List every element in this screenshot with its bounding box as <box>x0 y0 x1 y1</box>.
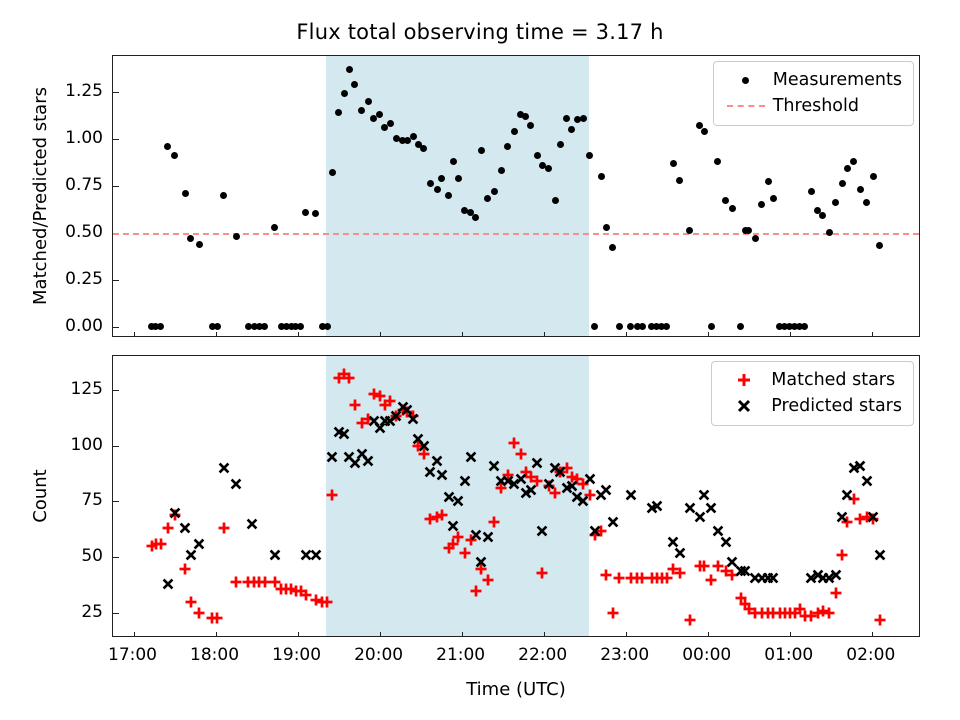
data-point-measurement <box>182 190 189 197</box>
data-point-matched <box>265 582 266 583</box>
y-tick-mark <box>113 501 119 502</box>
data-point-measurement <box>164 143 171 150</box>
data-point-measurement <box>365 98 372 105</box>
data-point-measurement <box>498 167 505 174</box>
data-point-matched <box>537 481 538 482</box>
data-point-predicted <box>560 472 561 473</box>
data-point-measurement <box>387 120 394 127</box>
y-tick-label: 0.50 <box>65 222 103 242</box>
x-tick-label: 22:00 <box>518 645 567 665</box>
data-point-predicted <box>413 419 414 420</box>
data-point-measurement <box>196 241 203 248</box>
data-point-measurement <box>297 323 304 330</box>
x-tick-label: 17:00 <box>108 645 157 665</box>
x-tick-mark <box>790 632 791 637</box>
x-tick-mark <box>626 332 627 337</box>
data-point-predicted <box>424 446 425 447</box>
data-point-predicted <box>847 495 848 496</box>
data-point-predicted <box>494 466 495 467</box>
data-point-predicted <box>442 475 443 476</box>
data-point-predicted <box>867 481 868 482</box>
data-point-measurement <box>214 323 221 330</box>
x-tick-mark <box>462 632 463 637</box>
x-tick-mark <box>544 632 545 637</box>
y-tick-label: 1.25 <box>65 81 103 101</box>
legend-label: Measurements <box>769 70 902 90</box>
data-point-predicted <box>531 490 532 491</box>
data-point-predicted <box>631 495 632 496</box>
data-point-measurement <box>450 158 457 165</box>
legend-marker-measurements <box>723 77 769 84</box>
data-point-predicted <box>252 524 253 525</box>
data-point-matched <box>667 578 668 579</box>
y-tick-mark <box>113 446 119 447</box>
data-point-measurement <box>335 109 342 116</box>
data-point-predicted <box>732 562 733 563</box>
data-point-measurement <box>826 229 833 236</box>
data-point-measurement <box>832 199 839 206</box>
data-point-measurement <box>609 244 616 251</box>
data-point-predicted <box>488 537 489 538</box>
data-point-predicted <box>430 472 431 473</box>
data-point-measurement <box>729 205 736 212</box>
legend-label: Matched stars <box>767 370 895 390</box>
data-point-predicted <box>449 497 450 498</box>
data-point-predicted <box>549 484 550 485</box>
data-point-measurement <box>580 115 587 122</box>
data-point-predicted <box>583 501 584 502</box>
data-point-matched <box>349 378 350 379</box>
data-point-matched <box>332 495 333 496</box>
data-point-predicted <box>680 553 681 554</box>
data-point-measurement <box>586 152 593 159</box>
data-point-matched <box>236 582 237 583</box>
data-point-matched <box>476 591 477 592</box>
data-point-predicted <box>332 457 333 458</box>
data-point-matched <box>380 396 381 397</box>
data-point-matched <box>217 618 218 619</box>
data-point-predicted <box>465 481 466 482</box>
data-point-matched <box>168 528 169 529</box>
y-tick-label: 125 <box>71 379 103 399</box>
data-point-predicted <box>471 457 472 458</box>
data-point-predicted <box>590 479 591 480</box>
x-tick-mark <box>872 332 873 337</box>
data-point-matched <box>465 553 466 554</box>
data-point-measurement <box>701 128 708 135</box>
data-point-predicted <box>700 517 701 518</box>
data-point-measurement <box>157 323 164 330</box>
data-point-matched <box>185 569 186 570</box>
data-point-predicted <box>407 410 408 411</box>
data-point-predicted <box>275 555 276 556</box>
data-point-measurement <box>552 197 559 204</box>
data-point-measurement <box>563 115 570 122</box>
data-point-matched <box>680 573 681 574</box>
legend-row: Matched stars <box>721 367 902 393</box>
data-point-predicted <box>224 468 225 469</box>
x-tick-mark <box>216 632 217 637</box>
data-point-predicted <box>316 555 317 556</box>
data-point-measurement <box>346 66 353 73</box>
data-point-measurement <box>714 158 721 165</box>
data-point-measurement <box>737 323 744 330</box>
data-point-measurement <box>491 188 498 195</box>
x-tick-mark <box>708 632 709 637</box>
data-point-matched <box>642 578 643 579</box>
data-point-predicted <box>880 555 881 556</box>
data-point-matched <box>390 401 391 402</box>
data-point-measurement <box>171 152 178 159</box>
page-title: Flux total observing time = 3.17 h <box>0 20 960 44</box>
x-tick-label: 20:00 <box>354 645 403 665</box>
data-point-predicted <box>191 555 192 556</box>
data-point-measurement <box>504 143 511 150</box>
data-point-predicted <box>595 531 596 532</box>
data-point-predicted <box>355 463 356 464</box>
data-point-measurement <box>376 111 383 118</box>
data-point-measurement <box>808 188 815 195</box>
data-point-measurement <box>220 192 227 199</box>
data-point-matched <box>494 522 495 523</box>
data-point-predicted <box>690 508 691 509</box>
data-point-matched <box>355 405 356 406</box>
data-point-predicted <box>306 555 307 556</box>
data-point-measurement <box>445 192 452 199</box>
x-axis-label: Time (UTC) <box>466 679 566 700</box>
y-tick-label: 25 <box>81 602 103 622</box>
data-point-matched <box>521 454 522 455</box>
data-point-matched <box>555 493 556 494</box>
data-point-predicted <box>704 495 705 496</box>
data-point-matched <box>161 544 162 545</box>
y-tick-label: 1.00 <box>65 128 103 148</box>
x-tick-mark <box>626 632 627 637</box>
data-point-measurement <box>568 126 575 133</box>
data-point-measurement <box>591 323 598 330</box>
data-point-measurement <box>312 210 319 217</box>
data-point-matched <box>458 537 459 538</box>
data-point-measurement <box>341 90 348 97</box>
data-point-measurement <box>819 212 826 219</box>
legend-marker-threshold <box>723 105 769 107</box>
data-point-predicted <box>476 535 477 536</box>
x-tick-label: 02:00 <box>846 645 895 665</box>
data-point-predicted <box>521 479 522 480</box>
x-tick-mark <box>298 632 299 637</box>
data-point-measurement <box>770 195 777 202</box>
y-tick-label: 100 <box>71 435 103 455</box>
data-point-predicted <box>396 416 397 417</box>
data-point-predicted <box>673 542 674 543</box>
data-point-measurement <box>670 160 677 167</box>
data-point-predicted <box>453 526 454 527</box>
data-point-matched <box>613 613 614 614</box>
x-tick-mark <box>216 332 217 337</box>
x-tick-mark <box>462 332 463 337</box>
y-axis-label: Count <box>30 469 51 522</box>
x-tick-mark <box>708 332 709 337</box>
data-point-predicted <box>437 461 438 462</box>
data-point-matched <box>306 595 307 596</box>
legend-marker-predicted-stars <box>721 398 767 414</box>
data-point-measurement <box>455 175 462 182</box>
y-tick-label: 0.25 <box>65 269 103 289</box>
data-point-measurement <box>857 186 864 193</box>
data-point-measurement <box>478 147 485 154</box>
data-point-matched <box>191 602 192 603</box>
data-point-predicted <box>860 466 861 467</box>
legend-count-panel: Matched starsPredicted stars <box>711 361 914 426</box>
data-point-measurement <box>639 323 646 330</box>
data-point-matched <box>199 613 200 614</box>
data-point-predicted <box>368 461 369 462</box>
data-point-predicted <box>718 531 719 532</box>
data-point-measurement <box>324 323 331 330</box>
legend-label: Predicted stars <box>767 396 902 416</box>
y-tick-label: 75 <box>81 490 103 510</box>
data-point-predicted <box>542 531 543 532</box>
data-point-matched <box>327 602 328 603</box>
data-point-matched <box>704 566 705 567</box>
legend-ratio-panel: MeasurementsThreshold <box>713 61 914 126</box>
data-point-matched <box>842 555 843 556</box>
data-point-matched <box>606 575 607 576</box>
data-point-matched <box>836 593 837 594</box>
data-point-predicted <box>168 584 169 585</box>
data-point-matched <box>829 613 830 614</box>
data-point-measurement <box>708 323 715 330</box>
data-point-measurement <box>676 177 683 184</box>
data-point-measurement <box>187 235 194 242</box>
y-tick-mark <box>113 186 119 187</box>
legend-row: Predicted stars <box>721 393 902 419</box>
data-point-measurement <box>603 224 610 231</box>
data-point-predicted <box>344 434 345 435</box>
data-point-measurement <box>839 180 846 187</box>
data-point-measurement <box>598 173 605 180</box>
data-point-predicted <box>572 486 573 487</box>
data-point-measurement <box>233 233 240 240</box>
x-tick-label: 23:00 <box>600 645 649 665</box>
y-tick-label: 0.75 <box>65 175 103 195</box>
data-point-predicted <box>175 513 176 514</box>
x-tick-label: 00:00 <box>682 645 731 665</box>
data-point-measurement <box>522 113 529 120</box>
y-axis-label: Matched/Predicted stars <box>30 87 51 305</box>
data-point-measurement <box>616 323 623 330</box>
x-tick-label: 18:00 <box>190 645 239 665</box>
y-tick-mark <box>113 613 119 614</box>
data-point-measurement <box>863 199 870 206</box>
data-point-predicted <box>199 544 200 545</box>
y-tick-mark <box>113 280 119 281</box>
data-point-measurement <box>765 178 772 185</box>
data-point-matched <box>542 573 543 574</box>
data-point-matched <box>880 620 881 621</box>
data-point-matched <box>442 515 443 516</box>
data-point-measurement <box>271 224 278 231</box>
y-tick-mark <box>113 327 119 328</box>
x-tick-mark <box>134 632 135 637</box>
x-tick-mark <box>380 632 381 637</box>
legend-label: Threshold <box>769 96 859 116</box>
data-point-predicted <box>185 528 186 529</box>
x-tick-mark <box>298 332 299 337</box>
data-point-measurement <box>434 186 441 193</box>
data-point-measurement <box>870 173 877 180</box>
data-point-measurement <box>758 201 765 208</box>
data-point-predicted <box>458 501 459 502</box>
data-point-predicted <box>236 484 237 485</box>
data-point-measurement <box>358 107 365 114</box>
data-point-measurement <box>752 235 759 242</box>
x-tick-label: 19:00 <box>272 645 321 665</box>
data-point-predicted <box>726 542 727 543</box>
y-tick-mark <box>113 390 119 391</box>
data-point-measurement <box>534 152 541 159</box>
x-tick-mark <box>790 332 791 337</box>
y-tick-label: 50 <box>81 546 103 566</box>
data-point-predicted <box>836 575 837 576</box>
data-point-measurement <box>801 323 808 330</box>
data-point-predicted <box>537 463 538 464</box>
data-point-predicted <box>773 578 774 579</box>
data-point-measurement <box>420 145 427 152</box>
x-tick-mark <box>544 332 545 337</box>
y-tick-mark <box>113 92 119 93</box>
data-point-predicted <box>745 571 746 572</box>
data-point-predicted <box>873 517 874 518</box>
data-point-predicted <box>606 490 607 491</box>
x-tick-label: 01:00 <box>764 645 813 665</box>
y-tick-mark <box>113 557 119 558</box>
data-point-measurement <box>722 197 729 204</box>
x-tick-mark <box>380 332 381 337</box>
data-point-measurement <box>557 141 564 148</box>
data-point-measurement <box>663 323 670 330</box>
y-tick-mark <box>113 139 119 140</box>
data-point-matched <box>224 528 225 529</box>
data-point-matched <box>711 580 712 581</box>
data-point-matched <box>424 454 425 455</box>
data-point-predicted <box>657 506 658 507</box>
y-tick-label: 0.00 <box>65 316 103 336</box>
legend-row: Threshold <box>723 93 902 119</box>
data-point-predicted <box>481 562 482 563</box>
data-point-matched <box>488 580 489 581</box>
x-tick-mark <box>134 332 135 337</box>
data-point-measurement <box>850 158 857 165</box>
data-point-measurement <box>302 209 309 216</box>
data-point-matched <box>514 443 515 444</box>
data-point-predicted <box>613 522 614 523</box>
data-point-matched <box>690 620 691 621</box>
data-point-measurement <box>876 242 883 249</box>
x-tick-label: 21:00 <box>436 645 485 665</box>
data-point-predicted <box>842 517 843 518</box>
legend-marker-matched-stars <box>721 372 767 388</box>
data-point-matched <box>619 578 620 579</box>
data-point-measurement <box>844 165 851 172</box>
data-point-measurement <box>261 323 268 330</box>
data-point-measurement <box>511 128 518 135</box>
legend-row: Measurements <box>723 67 902 93</box>
x-tick-mark <box>872 632 873 637</box>
data-point-measurement <box>329 169 336 176</box>
data-point-predicted <box>711 508 712 509</box>
